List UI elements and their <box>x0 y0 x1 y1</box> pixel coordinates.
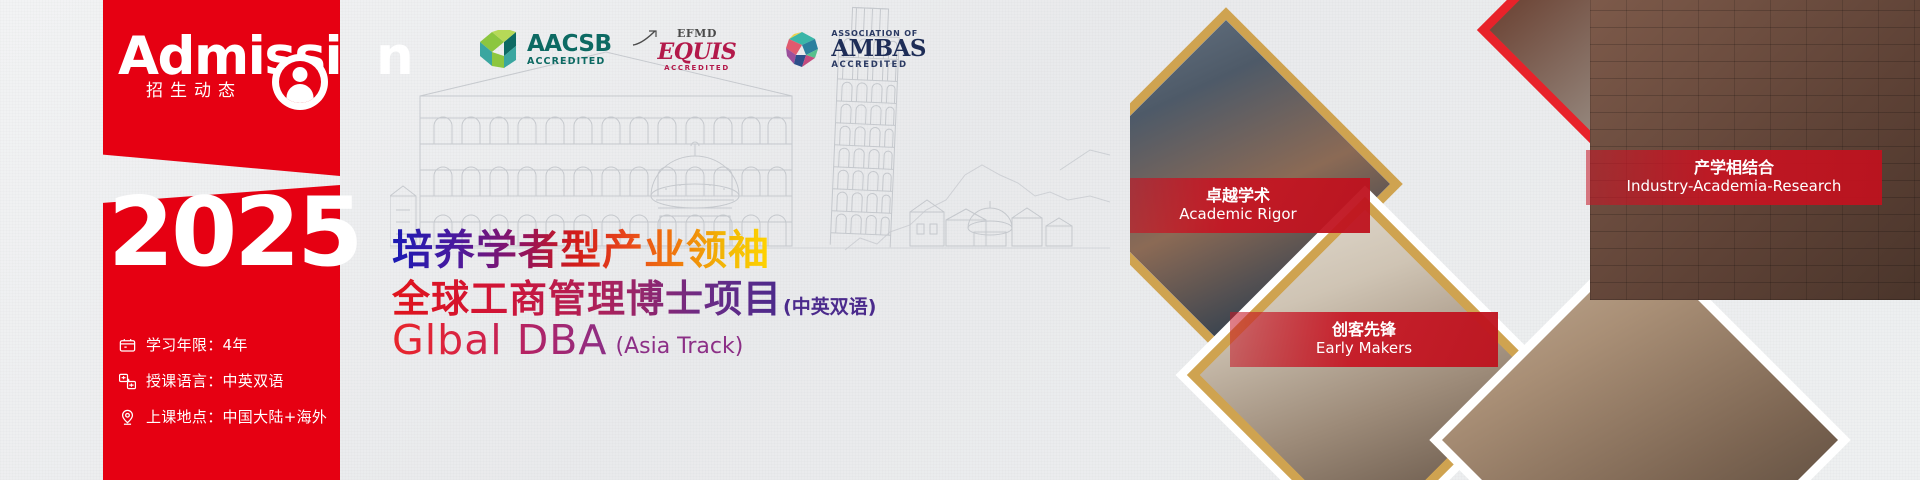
program-title-cn: 全球工商管理博士项目 (中英双语) <box>392 268 876 323</box>
calendar-icon <box>118 336 137 355</box>
photo-collage: 卓越学术 Academic Rigor 产学相结合 Industry-Acade… <box>1130 0 1920 480</box>
aacsb-logo-icon <box>478 30 518 70</box>
admission-banner: Admission 招生动态 2025 学习年限：4年 <box>0 0 1920 480</box>
admission-logo: Admission 招生动态 <box>108 30 348 120</box>
info-row-location: 上课地点：中国大陆+海外 <box>118 399 348 435</box>
aacsb-name: AACSB <box>527 33 612 56</box>
admission-wordmark-tail: n <box>376 26 412 87</box>
equis-org: EFMD <box>658 28 737 39</box>
badge-early-makers: 创客先锋 Early Makers <box>1230 312 1498 367</box>
equis-logo-icon: EFMD EQUIS ACCREDITED <box>658 28 737 72</box>
aacsb-status: ACCREDITED <box>527 57 612 67</box>
amba-logo-icon <box>782 31 822 69</box>
badge-academic-rigor: 卓越学术 Academic Rigor <box>1130 178 1370 233</box>
admission-wordmark-o-placeholder: o <box>341 26 376 87</box>
year-label: 2025 <box>108 186 340 281</box>
program-title-en: Glbal DBA (Asia Track) <box>392 316 743 364</box>
info-label-language: 授课语言：中英双语 <box>146 374 284 389</box>
accreditation-amba: ASSOCIATION OF AMBAS ACCREDITED <box>782 30 926 70</box>
language-icon <box>118 372 137 391</box>
badge-industry-academia-cn: 产学相结合 <box>1604 159 1864 178</box>
info-label-location: 上课地点：中国大陆+海外 <box>146 410 327 425</box>
person-in-circle-icon <box>272 54 328 110</box>
program-info-list: 学习年限：4年 授课语言：中英双语 <box>118 327 348 435</box>
program-title-en-main: Glbal DBA <box>392 316 607 364</box>
info-label-duration: 学习年限：4年 <box>146 338 248 353</box>
admission-wordmark-cn: 招生动态 <box>146 76 242 101</box>
badge-industry-academia-en: Industry-Academia-Research <box>1604 178 1864 196</box>
badge-academic-rigor-cn: 卓越学术 <box>1130 187 1352 206</box>
badge-early-makers-cn: 创客先锋 <box>1248 321 1480 340</box>
info-row-duration: 学习年限：4年 <box>118 327 348 363</box>
info-row-language: 授课语言：中英双语 <box>118 363 348 399</box>
location-pin-icon <box>118 408 137 427</box>
equis-name: EQUIS <box>658 41 737 63</box>
badge-early-makers-en: Early Makers <box>1248 340 1480 358</box>
program-title-cn-main: 全球工商管理博士项目 <box>392 268 782 323</box>
accreditation-logos: AACSB ACCREDITED EFMD EQUIS ACCREDITED <box>478 22 926 78</box>
program-title-en-note: (Asia Track) <box>615 334 743 364</box>
accreditation-aacsb: AACSB ACCREDITED <box>478 30 612 70</box>
badge-industry-academia: 产学相结合 Industry-Academia-Research <box>1586 150 1882 205</box>
program-title-cn-note: (中英双语) <box>783 292 876 323</box>
amba-status: ACCREDITED <box>831 61 926 70</box>
equis-status: ACCREDITED <box>658 65 737 72</box>
tagline: 培养学者型产业领袖 <box>392 216 770 276</box>
accreditation-equis: EFMD EQUIS ACCREDITED <box>658 28 737 72</box>
badge-academic-rigor-en: Academic Rigor <box>1130 206 1352 224</box>
amba-name: AMBAS <box>831 37 926 60</box>
